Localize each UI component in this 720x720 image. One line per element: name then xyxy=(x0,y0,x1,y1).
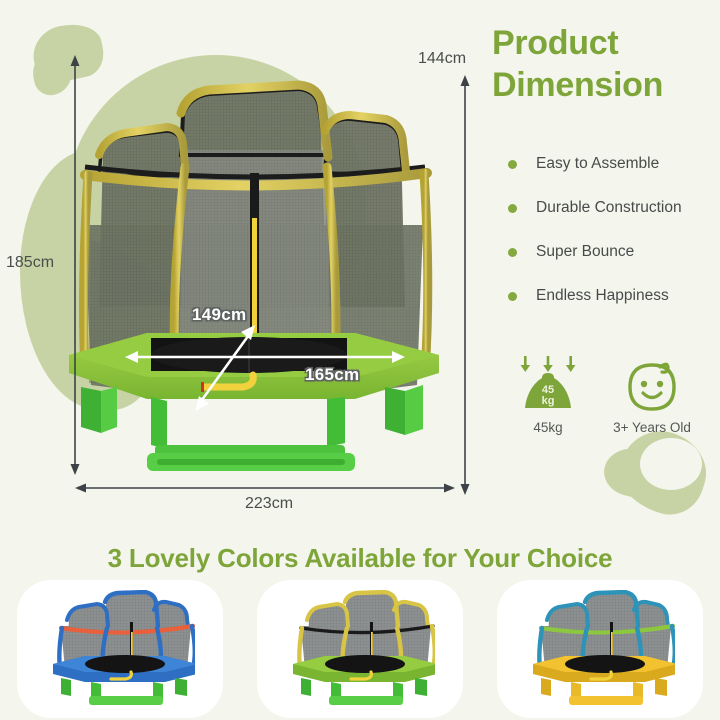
spec-weight-caption: 45kg xyxy=(500,420,596,435)
bullet-dot-icon xyxy=(508,160,517,169)
blue-variant-illustration xyxy=(45,590,195,708)
bullet-dot-icon xyxy=(508,292,517,301)
page-title-line1: Product xyxy=(492,22,720,64)
feature-list: Easy to Assemble Durable Construction Su… xyxy=(508,142,720,318)
feature-label: Super Bounce xyxy=(536,243,634,261)
weight-bag-icon: 45 kg xyxy=(512,356,584,414)
variant-card-green[interactable] xyxy=(257,580,463,718)
page-title-line2: Dimension xyxy=(492,64,720,106)
list-item: Super Bounce xyxy=(508,230,720,274)
feature-label: Endless Happiness xyxy=(536,287,669,305)
dimension-label-mat-diagonal: 149cm xyxy=(192,305,246,325)
page-title: Product Dimension xyxy=(492,22,720,106)
yellow-variant-illustration xyxy=(525,590,675,708)
colors-section-title: 3 Lovely Colors Available for Your Choic… xyxy=(0,543,720,574)
spec-weight-capacity: 45 kg 45kg xyxy=(500,356,596,435)
spec-age-range: 3+ Years Old xyxy=(604,360,700,435)
weight-icon-value-line2: kg xyxy=(542,395,555,407)
down-arrow-icon xyxy=(543,356,553,372)
dimension-arrow-height-total xyxy=(450,75,480,495)
spec-icons: 45 kg 45kg 3+ Years Old xyxy=(500,356,720,451)
dimension-arrow-height-side xyxy=(60,55,90,475)
list-item: Endless Happiness xyxy=(508,274,720,318)
color-variants xyxy=(0,578,720,720)
down-arrow-icon xyxy=(566,356,576,372)
green-variant-illustration xyxy=(285,590,435,708)
product-illustration xyxy=(55,55,475,535)
variant-card-yellow[interactable] xyxy=(497,580,703,718)
infographic-canvas: 144cm 185cm 223cm 165cm 149cm Product Di… xyxy=(0,0,720,720)
feature-label: Easy to Assemble xyxy=(536,155,659,173)
dimension-label-mat-width: 165cm xyxy=(305,365,359,385)
feature-label: Durable Construction xyxy=(536,199,682,217)
dimension-label-frame-width: 223cm xyxy=(245,495,293,513)
baby-face-icon xyxy=(621,360,683,414)
spec-age-caption: 3+ Years Old xyxy=(604,420,700,435)
dimension-label-height-total: 144cm xyxy=(418,50,466,68)
dimension-label-height-side: 185cm xyxy=(6,254,54,272)
list-item: Easy to Assemble xyxy=(508,142,720,186)
down-arrow-icon xyxy=(521,356,531,372)
bullet-dot-icon xyxy=(508,248,517,257)
list-item: Durable Construction xyxy=(508,186,720,230)
bullet-dot-icon xyxy=(508,204,517,213)
dimension-arrow-mat-diagonal xyxy=(185,318,265,418)
dimension-arrow-mat-width xyxy=(125,347,405,367)
variant-card-blue[interactable] xyxy=(17,580,223,718)
